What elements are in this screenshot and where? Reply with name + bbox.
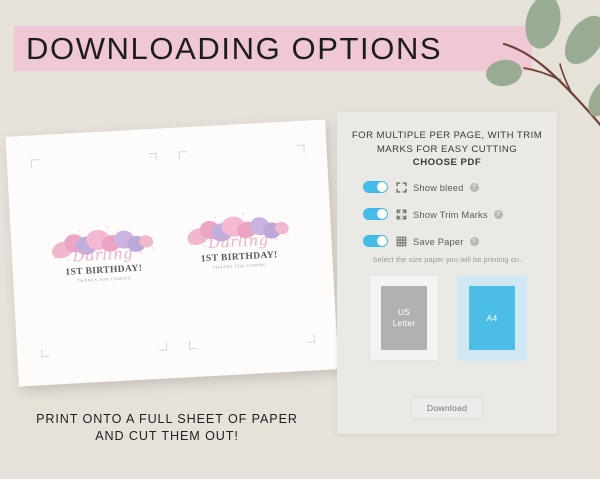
help-icon[interactable]: ?: [470, 237, 479, 246]
bleed-brackets-icon: [395, 182, 408, 193]
us-letter-label-line-2: Letter: [393, 318, 416, 328]
download-options-panel: FOR MULTIPLE PER PAGE, WITH TRIM MARKS F…: [337, 112, 557, 434]
toggle-show-trim-marks[interactable]: [363, 208, 388, 221]
trim-mark: [159, 342, 167, 350]
paper-size-option-a4[interactable]: A4: [457, 275, 527, 361]
download-button-row: Download: [337, 397, 557, 419]
option-label-save-paper: Save Paper: [413, 236, 464, 247]
trim-mark: [149, 153, 157, 161]
toggle-knob: [377, 182, 387, 192]
toggle-knob: [377, 236, 387, 246]
trim-marks-arrows-icon: [395, 209, 408, 220]
card-preview: Darling 1ST BIRTHDAY! THANKS FOR COMING: [174, 197, 302, 290]
panel-heading-line-3: CHOOSE PDF: [345, 156, 549, 170]
paper-size-hint: Select the size paper you will be printi…: [347, 255, 547, 264]
option-label-show-trim-marks: Show Trim Marks: [413, 209, 488, 220]
a4-sheet-icon: A4: [469, 286, 515, 350]
toggle-knob: [377, 209, 387, 219]
option-row-show-bleed[interactable]: Show bleed ?: [363, 176, 543, 198]
option-row-show-trim-marks[interactable]: Show Trim Marks ?: [363, 203, 543, 225]
printed-sheet-preview: Darling 1ST BIRTHDAY! THANKS FOR COMING: [5, 120, 338, 387]
toggle-save-paper[interactable]: [363, 235, 388, 248]
panel-heading-line-1: FOR MULTIPLE PER PAGE, WITH TRIM: [352, 130, 542, 141]
trim-mark: [296, 145, 304, 153]
bottom-caption: PRINT ONTO A FULL SHEET OF PAPER AND CUT…: [14, 411, 320, 445]
poster-canvas: DOWNLOADING OPTIONS: [0, 0, 600, 479]
help-icon[interactable]: ?: [470, 183, 479, 192]
trim-mark: [41, 349, 49, 357]
caption-line-2: AND CUT THEM OUT!: [95, 429, 239, 443]
paper-size-option-us-letter[interactable]: US Letter: [369, 275, 439, 361]
us-letter-label-line-1: US: [398, 307, 410, 317]
help-icon[interactable]: ?: [494, 210, 503, 219]
option-row-save-paper[interactable]: Save Paper ?: [363, 230, 543, 252]
card-preview: Darling 1ST BIRTHDAY! THANKS FOR COMING: [39, 210, 167, 303]
download-button[interactable]: Download: [411, 397, 483, 419]
toggle-list: Show bleed ? Show Trim Marks ?: [363, 176, 543, 257]
option-label-show-bleed: Show bleed: [413, 182, 464, 193]
toggle-show-bleed[interactable]: [363, 181, 388, 194]
panel-heading-line-2: MARKS FOR EASY CUTTING: [377, 144, 517, 155]
trim-mark: [31, 159, 39, 167]
caption-line-1: PRINT ONTO A FULL SHEET OF PAPER: [36, 412, 298, 426]
grid-icon: [395, 236, 408, 247]
us-letter-sheet-icon: US Letter: [381, 286, 427, 350]
trim-mark: [307, 334, 315, 342]
paper-size-selector: US Letter A4: [369, 275, 527, 361]
trim-mark: [179, 151, 187, 159]
a4-label: A4: [487, 313, 498, 324]
trim-mark: [189, 341, 197, 349]
panel-heading: FOR MULTIPLE PER PAGE, WITH TRIM MARKS F…: [345, 129, 549, 170]
